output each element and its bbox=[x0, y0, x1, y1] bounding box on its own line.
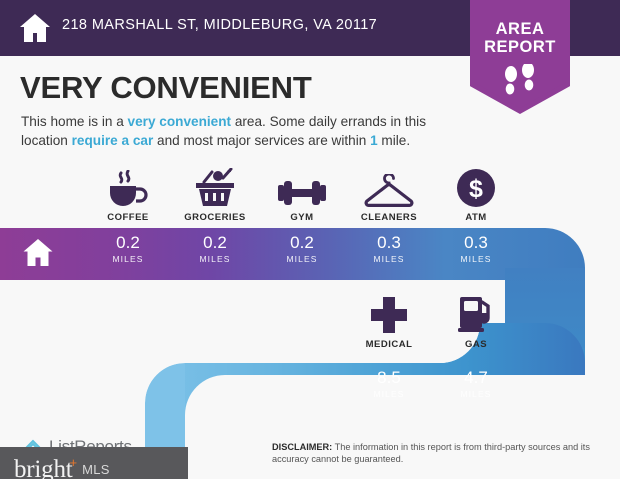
medical-cross-icon bbox=[345, 295, 433, 335]
desc-part-4: mile. bbox=[378, 133, 410, 148]
desc-highlight-2: require a car bbox=[72, 133, 154, 148]
category-label: GROCERIES bbox=[171, 212, 259, 223]
category-label: GAS bbox=[432, 339, 520, 350]
distance-unit: MILES bbox=[432, 254, 520, 264]
desc-part-1: This home is in a bbox=[21, 114, 128, 129]
description-text: This home is in a very convenient area. … bbox=[21, 112, 451, 150]
disclaimer-label: DISCLAIMER: bbox=[272, 442, 332, 452]
desc-part-3: and most major services are within bbox=[153, 133, 370, 148]
distance-unit: MILES bbox=[171, 254, 259, 264]
badge-title: AREA REPORT bbox=[470, 20, 570, 56]
distance-unit: MILES bbox=[345, 389, 433, 399]
distance-cell-medical: 8.5 MILES bbox=[345, 367, 433, 399]
dollar-coin-icon: $ bbox=[432, 168, 520, 208]
category-gym: GYM bbox=[258, 168, 346, 223]
distance-values-row-1: 0.2 MILES 0.2 MILES 0.2 MILES 0.3 MILES … bbox=[0, 228, 620, 280]
page-title: VERY CONVENIENT bbox=[20, 70, 312, 106]
distance-value: 0.2 bbox=[171, 232, 259, 254]
dumbbell-icon bbox=[258, 168, 346, 208]
area-report-page: 218 MARSHALL ST, MIDDLEBURG, VA 20117 AR… bbox=[0, 0, 620, 479]
distance-value: 4.7 bbox=[432, 367, 520, 389]
bright-mls-logo[interactable]: bright + MLS bbox=[0, 447, 188, 479]
desc-highlight-1: very convenient bbox=[128, 114, 232, 129]
mls-label: MLS bbox=[82, 462, 110, 477]
category-medical: MEDICAL bbox=[345, 295, 433, 350]
category-icon-row-1: COFFEE GROCERIES bbox=[0, 168, 620, 228]
category-label: GYM bbox=[258, 212, 346, 223]
clothes-hanger-icon bbox=[345, 168, 433, 208]
category-label: COFFEE bbox=[84, 212, 172, 223]
gas-pump-icon bbox=[432, 295, 520, 335]
distance-cell-gym: 0.2 MILES bbox=[258, 232, 346, 264]
badge-line-1: AREA bbox=[470, 20, 570, 38]
bright-plus-icon: + bbox=[70, 455, 78, 470]
distance-unit: MILES bbox=[432, 389, 520, 399]
distance-value: 0.2 bbox=[84, 232, 172, 254]
category-groceries: GROCERIES bbox=[171, 168, 259, 223]
distance-cell-cleaners: 0.3 MILES bbox=[345, 232, 433, 264]
home-marker-icon bbox=[22, 237, 54, 268]
grocery-basket-icon bbox=[171, 168, 259, 208]
category-label: CLEANERS bbox=[345, 212, 433, 223]
category-label: ATM bbox=[432, 212, 520, 223]
distance-cell-coffee: 0.2 MILES bbox=[84, 232, 172, 264]
distance-unit: MILES bbox=[258, 254, 346, 264]
property-address: 218 MARSHALL ST, MIDDLEBURG, VA 20117 bbox=[62, 17, 377, 33]
distance-cell-groceries: 0.2 MILES bbox=[171, 232, 259, 264]
distance-cell-gas: 4.7 MILES bbox=[432, 367, 520, 399]
distance-value: 0.3 bbox=[432, 232, 520, 254]
distance-values-row-2: 8.5 MILES 4.7 MILES bbox=[0, 363, 620, 415]
category-atm: $ ATM bbox=[432, 168, 520, 223]
category-gas: GAS bbox=[432, 295, 520, 350]
home-icon bbox=[18, 12, 52, 44]
coffee-cup-icon bbox=[84, 168, 172, 208]
distance-value: 0.3 bbox=[345, 232, 433, 254]
category-cleaners: CLEANERS bbox=[345, 168, 433, 223]
category-icon-row-2: MEDICAL GAS bbox=[0, 295, 620, 357]
svg-text:$: $ bbox=[469, 175, 483, 203]
badge-line-2: REPORT bbox=[470, 38, 570, 56]
distance-unit: MILES bbox=[345, 254, 433, 264]
distance-value: 0.2 bbox=[258, 232, 346, 254]
disclaimer: DISCLAIMER: The information in this repo… bbox=[272, 441, 592, 466]
footprints-icon bbox=[470, 64, 570, 100]
distance-value: 8.5 bbox=[345, 367, 433, 389]
distance-unit: MILES bbox=[84, 254, 172, 264]
category-label: MEDICAL bbox=[345, 339, 433, 350]
desc-highlight-3: 1 bbox=[370, 133, 378, 148]
bright-label: bright bbox=[14, 456, 73, 479]
distance-cell-atm: 0.3 MILES bbox=[432, 232, 520, 264]
category-coffee: COFFEE bbox=[84, 168, 172, 223]
